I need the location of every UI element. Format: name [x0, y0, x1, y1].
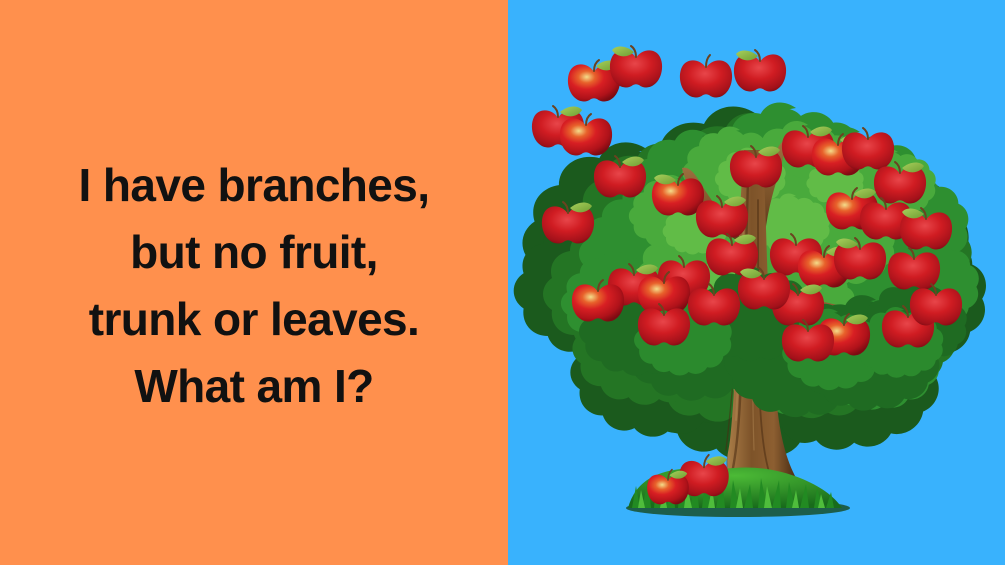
- apple: [782, 320, 834, 361]
- left-text-panel: I have branches, but no fruit, trunk or …: [0, 0, 508, 565]
- apple-tree-illustration: [508, 0, 1005, 565]
- apple: [730, 146, 782, 187]
- apple: [842, 128, 894, 169]
- apple: [734, 50, 786, 91]
- apple: [680, 55, 732, 97]
- apple: [638, 304, 690, 345]
- apple: [834, 238, 886, 279]
- apple: [652, 174, 704, 215]
- apple: [594, 156, 646, 197]
- apple: [560, 114, 612, 155]
- right-image-panel: [508, 0, 1005, 565]
- riddle-line-4: What am I?: [0, 353, 508, 420]
- apple: [900, 208, 952, 249]
- slide-canvas: I have branches, but no fruit, trunk or …: [0, 0, 1005, 565]
- apple: [610, 46, 662, 87]
- riddle-line-1: I have branches,: [0, 152, 508, 219]
- fallen-apple: [647, 470, 689, 505]
- apple: [572, 280, 624, 321]
- apple: [542, 202, 594, 243]
- apple: [910, 284, 962, 325]
- riddle-text-block: I have branches, but no fruit, trunk or …: [0, 152, 508, 420]
- apple: [696, 196, 748, 237]
- apple: [688, 284, 740, 325]
- apple: [888, 248, 940, 289]
- apple: [638, 272, 690, 313]
- apple: [738, 268, 790, 309]
- apple: [874, 162, 926, 203]
- riddle-line-3: trunk or leaves.: [0, 286, 508, 353]
- riddle-line-2: but no fruit,: [0, 219, 508, 286]
